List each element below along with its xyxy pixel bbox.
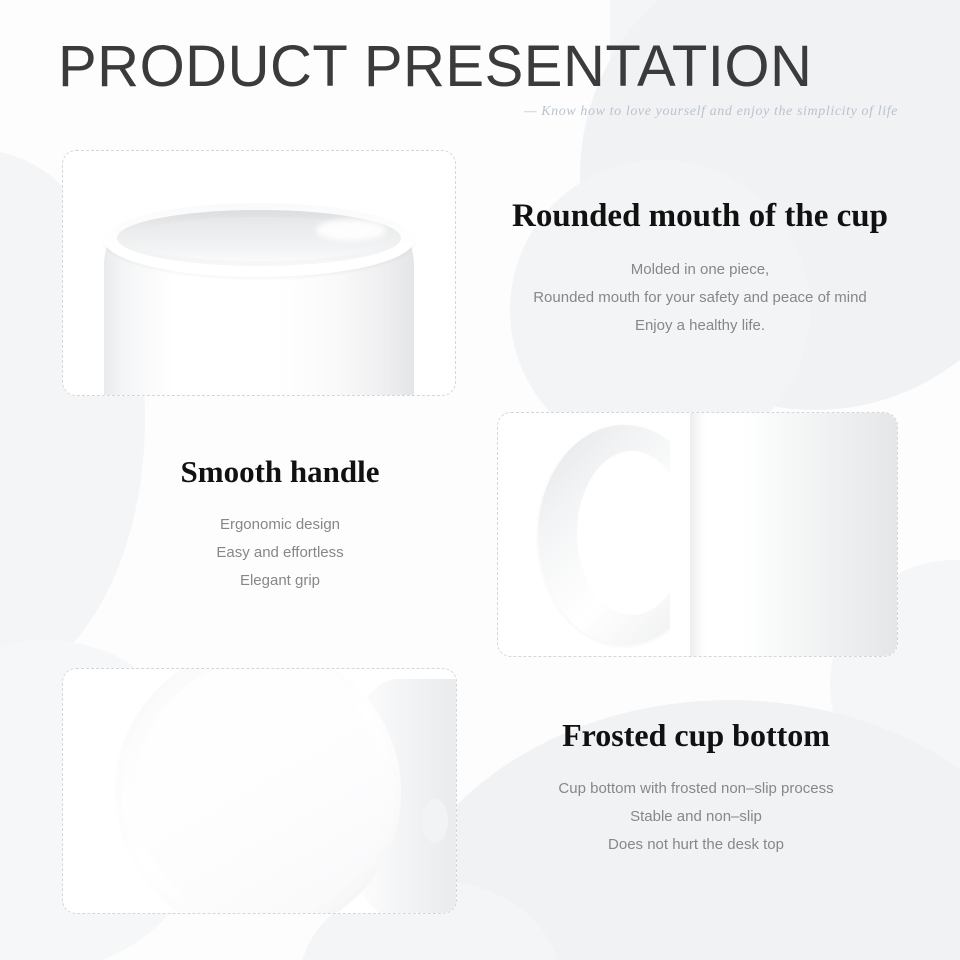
feature-description-line: Cup bottom with frosted non–slip process (466, 775, 926, 803)
feature-description-line: Enjoy a healthy life. (470, 312, 930, 340)
feature-rounded-mouth-description: Molded in one piece, Rounded mouth for y… (470, 256, 930, 340)
feature-description-line: Easy and effortless (50, 539, 510, 567)
feature-description-line: Rounded mouth for your safety and peace … (470, 284, 930, 312)
mug-body-side (690, 413, 897, 656)
cup-handle-photo-panel (497, 412, 898, 657)
feature-rounded-mouth-title: Rounded mouth of the cup (470, 198, 930, 234)
product-presentation-page: PRODUCT PRESENTATION — Know how to love … (0, 0, 960, 960)
feature-description-line: Ergonomic design (50, 511, 510, 539)
feature-smooth-handle: Smooth handle Ergonomic design Easy and … (50, 455, 510, 595)
cup-handle-photo (520, 413, 897, 656)
cup-mouth-highlight (316, 219, 386, 241)
page-header: PRODUCT PRESENTATION — Know how to love … (0, 0, 960, 140)
feature-rounded-mouth: Rounded mouth of the cup Molded in one p… (470, 198, 930, 340)
feature-description-line: Does not hurt the desk top (466, 831, 926, 859)
feature-description-line: Elegant grip (50, 567, 510, 595)
cup-bottom-handle-nub (422, 799, 448, 843)
feature-frosted-bottom-title: Frosted cup bottom (466, 718, 926, 753)
cup-mouth-photo (104, 203, 414, 396)
mug-body-edge (690, 413, 706, 656)
feature-description-line: Stable and non–slip (466, 803, 926, 831)
page-subtitle: — Know how to love yourself and enjoy th… (524, 104, 898, 120)
cup-bottom-photo-panel (62, 668, 457, 914)
feature-description-line: Molded in one piece, (470, 256, 930, 284)
cup-mouth-photo-panel (62, 150, 456, 396)
cup-bottom-photo (63, 669, 456, 913)
feature-frosted-bottom-description: Cup bottom with frosted non–slip process… (466, 775, 926, 859)
page-title: PRODUCT PRESENTATION (58, 38, 812, 96)
cup-bottom-disc-inner (135, 668, 385, 914)
feature-smooth-handle-description: Ergonomic design Easy and effortless Ele… (50, 511, 510, 595)
feature-frosted-bottom: Frosted cup bottom Cup bottom with frost… (466, 718, 926, 859)
feature-smooth-handle-title: Smooth handle (50, 455, 510, 489)
